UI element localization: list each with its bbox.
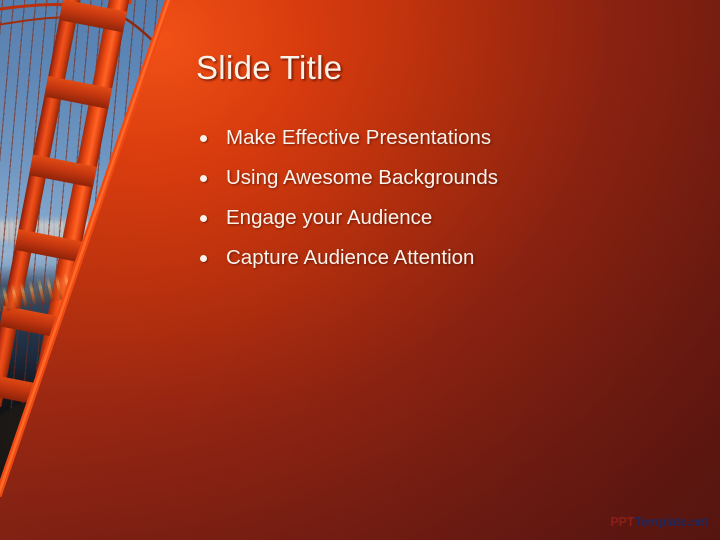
watermark-prefix: PPT: [611, 515, 635, 529]
bullet-point-icon: [200, 175, 207, 182]
slide-content: Slide Title Make Effective Presentations…: [0, 0, 720, 540]
watermark-logo: PPTTemplate.net: [611, 516, 709, 529]
list-item[interactable]: Make Effective Presentations: [196, 118, 666, 158]
list-item[interactable]: Capture Audience Attention: [196, 238, 666, 278]
list-item-label: Make Effective Presentations: [226, 126, 491, 149]
list-item-label: Engage your Audience: [226, 206, 432, 229]
list-item[interactable]: Engage your Audience: [196, 198, 666, 238]
bullet-point-icon: [200, 215, 207, 222]
presentation-slide: Slide Title Make Effective Presentations…: [0, 0, 720, 540]
bullet-list: Make Effective Presentations Using Aweso…: [196, 118, 666, 278]
bullet-point-icon: [200, 255, 207, 262]
list-item-label: Capture Audience Attention: [226, 246, 474, 269]
watermark-suffix: Template.net: [634, 515, 708, 529]
list-item-label: Using Awesome Backgrounds: [226, 166, 498, 189]
list-item[interactable]: Using Awesome Backgrounds: [196, 158, 666, 198]
page-title[interactable]: Slide Title: [196, 49, 342, 87]
bullet-point-icon: [200, 135, 207, 142]
